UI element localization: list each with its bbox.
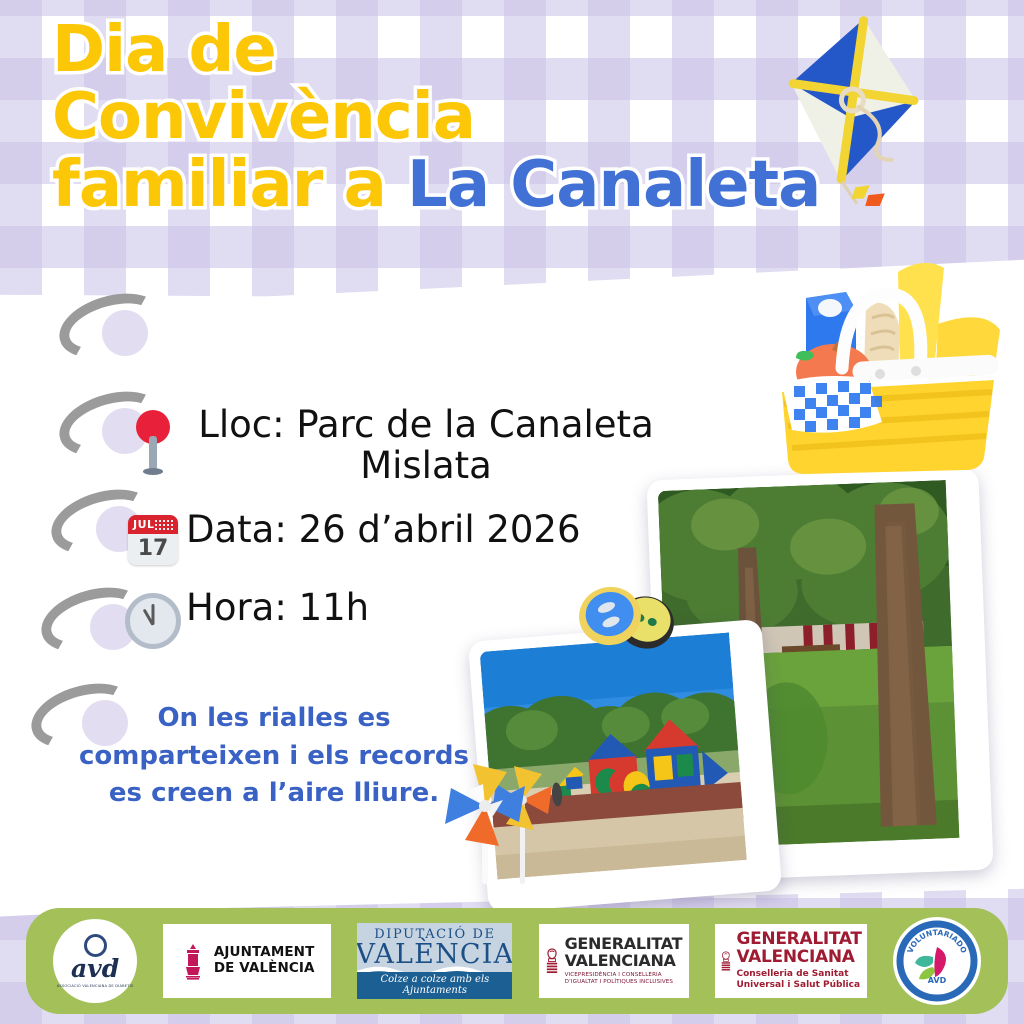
gv1-line2: VALENCIANA [565,953,684,969]
voluntariat-mark-text: AVD [928,976,947,985]
gv2-sub1: Conselleria de Sanitat [736,969,861,980]
logo-generalitat-valenciana-sanitat: GENERALITAT VALENCIANA Conselleria de Sa… [715,924,867,998]
gv1-subtitle: VICEPRESIDÈNCIA I CONSELLERIA D’IGUALTAT… [565,972,684,986]
poster-root: Dia de Convivència familiar a La Canalet… [0,0,1024,1024]
calendar-day: 17 [128,534,178,564]
calendar-month: JUL [133,518,155,531]
tagline: On les rialles es comparteixen i els rec… [74,700,474,813]
kite-icon [768,6,938,206]
location-text: Lloc: Parc de la Canaleta Mislata [176,404,676,487]
ajuntament-text: AJUNTAMENT DE VALÈNCIA [214,945,315,976]
voluntariat-seal-icon: VOLUNTARIADO AVD [893,917,981,1005]
info-row-location: Lloc: Parc de la Canaleta Mislata [120,404,700,487]
gv2-line2: VALENCIANA [736,949,861,967]
valencia-crest-icon [180,942,206,980]
buttons-icon [572,578,680,658]
calendar-icon: JUL 17 [120,509,186,565]
logo-diputacio-de-valencia: DIPUTACIÓ DE VALÈNCIA Colze a colze amb … [357,923,512,999]
avd-wordmark: avd [71,958,119,981]
generalitat-crest-icon [544,938,560,984]
diputacio-line3: Colze a colze amb els Ajuntaments [357,972,512,999]
generalitat-crest-icon-2 [720,937,732,985]
title-line-3-yellow: familiar a [52,148,407,222]
ajuntament-line1: AJUNTAMENT [214,945,315,961]
sponsor-logos: avd ASSOCIACIÓ VALENCIANA DE DIABETIS AJ… [26,908,1008,1014]
logo-voluntariat-avd: VOLUNTARIADO AVD [893,917,981,1005]
clock-icon [120,587,186,649]
logo-generalitat-valenciana-igualtat: GENERALITAT VALENCIANA VICEPRESIDÈNCIA I… [539,924,689,998]
logo-avd: avd ASSOCIACIÓ VALENCIANA DE DIABETIS [53,919,137,1003]
date-text: Data: 26 d’abril 2026 [186,509,581,550]
time-text: Hora: 11h [186,587,369,628]
gv2-sub2: Universal i Salut Pública [736,980,861,991]
location-label: Lloc: Parc de la Canaleta [198,403,654,446]
calendar-dots [154,519,174,530]
generalitat-igualtat-text: GENERALITAT VALENCIANA VICEPRESIDÈNCIA I… [565,936,684,986]
generalitat-sanitat-text: GENERALITAT VALENCIANA Conselleria de Sa… [736,931,861,991]
ajuntament-line2: DE VALÈNCIA [214,961,315,977]
logo-ajuntament-de-valencia: AJUNTAMENT DE VALÈNCIA [163,924,331,998]
pinwheel-icon [428,748,574,884]
title-line-3-blue: La Canaleta [407,148,820,222]
avd-subtitle: ASSOCIACIÓ VALENCIANA DE DIABETIS [57,984,134,988]
location-city: Mislata [360,444,492,487]
info-row-date: JUL 17 Data: 26 d’abril 2026 [120,509,700,565]
picnic-basket-icon [748,252,1014,480]
